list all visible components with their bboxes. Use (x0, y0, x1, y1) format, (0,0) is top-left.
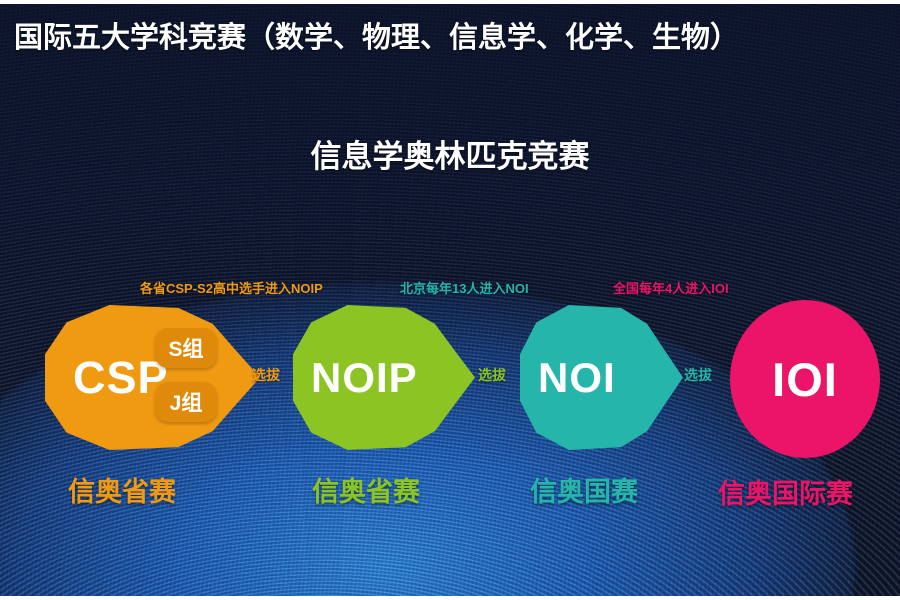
select-label-csp-to-noip: 选拔 (252, 365, 280, 385)
note-csp-to-noip: 各省CSP-S2高中选手进入NOIP (140, 278, 323, 297)
ioi-shape[interactable]: IOI (730, 300, 880, 458)
noip-label: NOIP (311, 357, 418, 399)
noi-shape[interactable]: NOI (520, 305, 683, 450)
select-label-noip-to-noi: 选拔 (478, 365, 506, 385)
caption-csp: 信奥省赛 (68, 470, 176, 509)
stage-noi[interactable]: NOI (520, 305, 683, 450)
bottom-border-bar (0, 596, 900, 600)
select-label-noi-to-ioi: 选拔 (684, 365, 712, 385)
top-border-bar (0, 0, 900, 4)
caption-ioi: 信奥国际赛 (718, 472, 853, 511)
caption-noi: 信奥国赛 (530, 470, 638, 509)
stage-csp[interactable]: CSP S组 J组 (45, 305, 260, 450)
page-subtitle: 信息学奥林匹克竞赛 (0, 131, 900, 176)
slide-canvas: 国际五大学科竞赛（数学、物理、信息学、化学、生物） 信息学奥林匹克竞赛 各省CS… (0, 0, 900, 600)
caption-noip: 信奥省赛 (312, 470, 420, 509)
ioi-label: IOI (772, 356, 838, 403)
note-noip-to-noi: 北京每年13人进入NOI (400, 278, 529, 297)
csp-badge-s[interactable]: S组 (155, 328, 217, 368)
stage-noip[interactable]: NOIP (293, 305, 475, 450)
stage-ioi[interactable]: IOI (730, 300, 880, 458)
note-noi-to-ioi: 全国每年4人进入IOI (613, 278, 729, 297)
noip-shape[interactable]: NOIP (293, 305, 475, 450)
noi-label: NOI (538, 357, 616, 399)
page-title: 国际五大学科竞赛（数学、物理、信息学、化学、生物） (14, 14, 739, 56)
csp-badge-j[interactable]: J组 (155, 382, 217, 422)
csp-shape[interactable]: CSP (45, 305, 260, 450)
